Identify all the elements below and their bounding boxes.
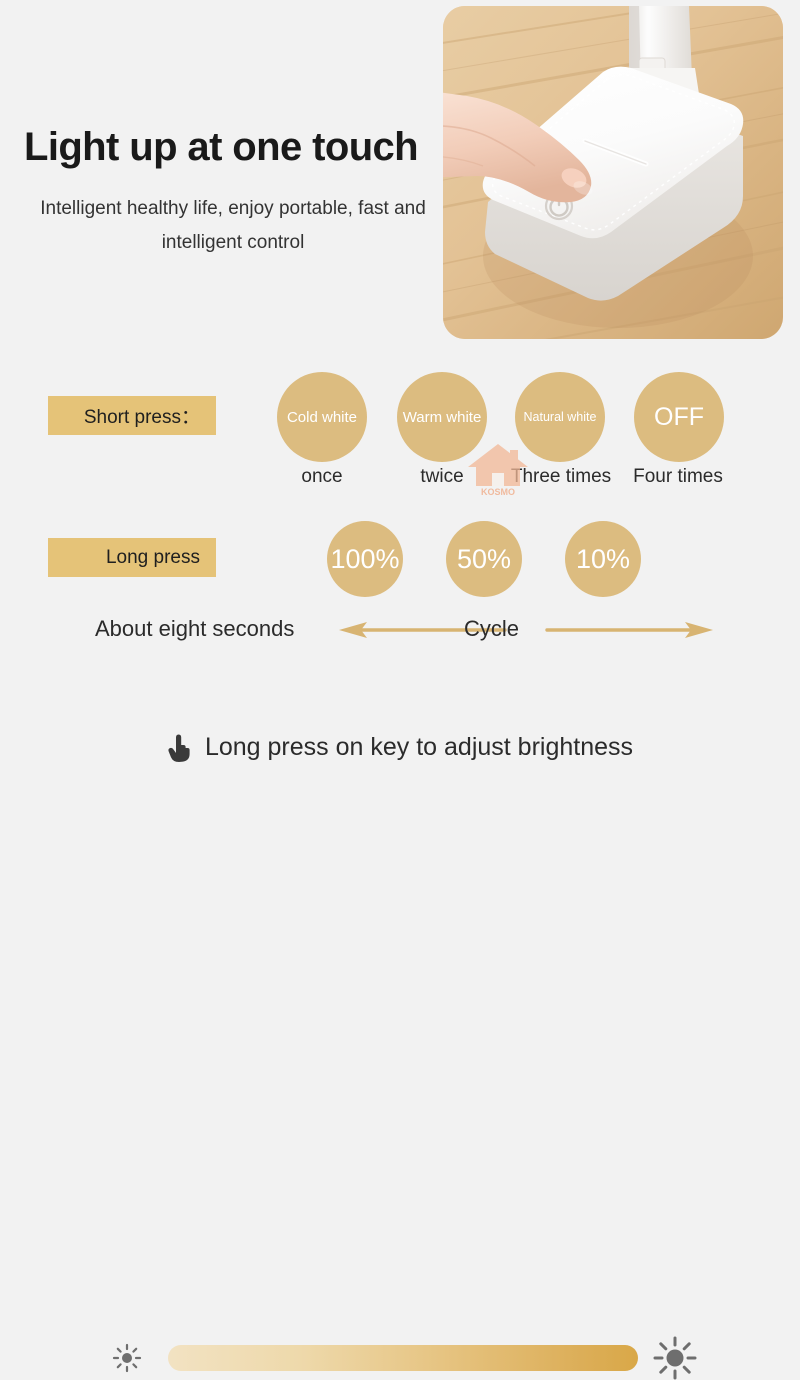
mode-circle-off[interactable]: OFF <box>634 372 724 462</box>
page-title: Light up at one touch <box>24 125 418 170</box>
sun-bright-icon <box>653 1336 697 1380</box>
page-subtitle: Intelligent healthy life, enjoy portable… <box>38 192 428 260</box>
cycle-duration-text: About eight seconds <box>95 616 294 642</box>
watermark-text: KOSMO <box>481 487 515 496</box>
brightness-circle-50[interactable]: 50% <box>446 521 522 597</box>
cycle-label-text: Cycle <box>464 616 519 642</box>
brightness-circle-label: 100% <box>330 546 399 573</box>
brightness-circle-100[interactable]: 100% <box>327 521 403 597</box>
mode-circle-label: OFF <box>654 405 704 430</box>
brightness-circle-label: 50% <box>457 546 511 573</box>
brightness-gradient-bar[interactable] <box>168 1345 638 1371</box>
arrow-right-icon <box>545 618 715 642</box>
brightness-slider-row <box>0 665 800 725</box>
brightness-circle-label: 10% <box>576 546 630 573</box>
brightness-instruction-text: Long press on key to adjust brightness <box>205 733 633 762</box>
mode-circle-label: Cold white <box>287 410 357 425</box>
mode-caption-twice: twice <box>397 466 487 488</box>
mode-circle-natural-white[interactable]: Natural white <box>515 372 605 462</box>
mode-caption-once: once <box>277 466 367 488</box>
product-photo <box>443 6 783 339</box>
hero-section: Light up at one touch Intelligent health… <box>0 0 800 345</box>
sun-dim-icon <box>112 1343 142 1373</box>
mode-caption-three-times: Three times <box>508 466 614 488</box>
long-press-label: Long press <box>48 538 216 577</box>
mode-circle-cold-white[interactable]: Cold white <box>277 372 367 462</box>
short-press-label: Short press： <box>48 396 216 435</box>
brightness-instruction-row: Long press on key to adjust brightness <box>0 725 800 770</box>
product-photo-image <box>443 6 783 339</box>
mode-circle-label: Natural white <box>524 411 597 424</box>
mode-circle-label: Warm white <box>403 410 482 425</box>
pointing-hand-icon <box>167 733 193 763</box>
mode-caption-four-times: Four times <box>625 466 731 488</box>
cycle-row: About eight seconds Cycle <box>0 612 800 650</box>
mode-circle-warm-white[interactable]: Warm white <box>397 372 487 462</box>
brightness-circle-10[interactable]: 10% <box>565 521 641 597</box>
